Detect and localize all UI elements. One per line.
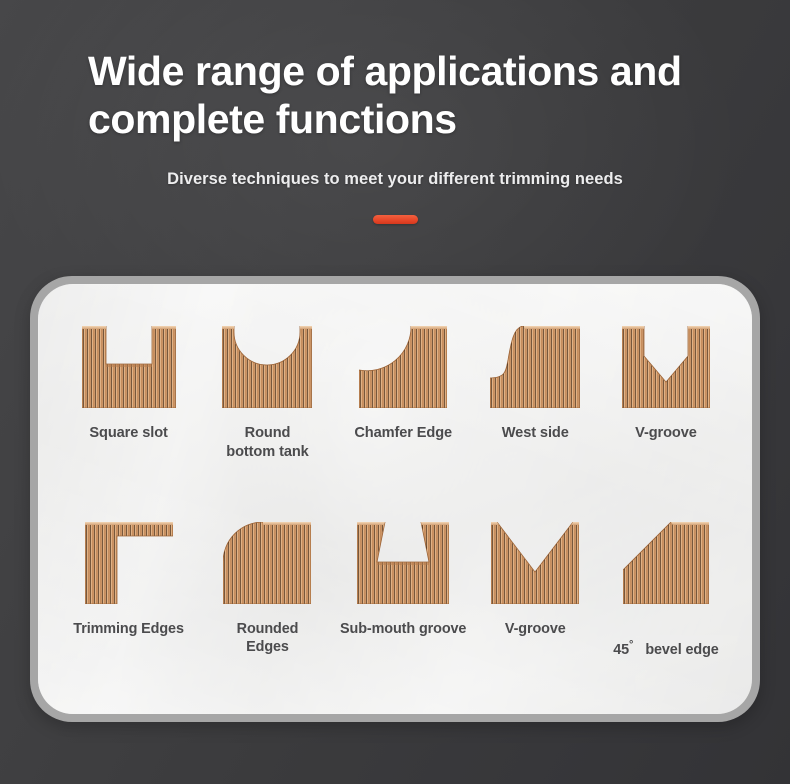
shape-cell-sub-mouth-groove[interactable]: Sub-mouth groove bbox=[336, 508, 471, 638]
west-side-shape bbox=[490, 312, 580, 408]
shape-row-2: Trimming Edges Rounded Edges bbox=[58, 508, 732, 688]
shape-label: Chamfer Edge bbox=[354, 424, 452, 443]
shape-cell-round-bottom-tank[interactable]: Round bottom tank bbox=[199, 312, 336, 461]
sub-mouth-groove-shape bbox=[357, 508, 449, 604]
bevel-label-rest: bevel edge bbox=[645, 642, 718, 658]
shape-label: Sub-mouth groove bbox=[340, 620, 466, 638]
shape-row-1: Square slot Round bottom tank bbox=[58, 312, 732, 502]
gallery-card-frame: Square slot Round bottom tank bbox=[30, 276, 760, 722]
shape-label: V-groove bbox=[505, 620, 566, 638]
v-groove-wide-shape bbox=[491, 508, 579, 604]
shape-cell-chamfer-edge[interactable]: Chamfer Edge bbox=[336, 312, 471, 443]
shape-label: Square slot bbox=[89, 424, 167, 443]
shape-label: West side bbox=[502, 424, 569, 443]
shape-label: V-groove bbox=[635, 424, 697, 443]
shape-label: Trimming Edges bbox=[73, 620, 184, 638]
page-subtitle: Diverse techniques to meet your differen… bbox=[0, 170, 790, 189]
bevel-edge-45-shape bbox=[623, 508, 709, 604]
shape-cell-square-slot[interactable]: Square slot bbox=[58, 312, 199, 443]
page-title: Wide range of applications and complete … bbox=[0, 48, 790, 144]
divider-container bbox=[0, 215, 790, 224]
v-groove-deep-shape bbox=[622, 312, 710, 408]
bevel-angle-value: 45 bbox=[613, 641, 629, 659]
shape-label: Rounded Edges bbox=[237, 620, 299, 657]
square-slot-shape bbox=[82, 312, 176, 408]
shape-cell-rounded-edges[interactable]: Rounded Edges bbox=[199, 508, 336, 657]
shape-cell-v-groove-deep[interactable]: V-groove bbox=[600, 312, 732, 443]
shape-label: 45°bevel edge bbox=[613, 620, 719, 660]
gallery-card: Square slot Round bottom tank bbox=[38, 284, 752, 714]
chamfer-edge-shape bbox=[359, 312, 447, 408]
shape-label: Round bottom tank bbox=[226, 424, 308, 461]
shape-cell-v-groove-wide[interactable]: V-groove bbox=[471, 508, 600, 638]
promo-page: Wide range of applications and complete … bbox=[0, 0, 790, 784]
accent-divider bbox=[373, 215, 418, 224]
round-bottom-tank-shape bbox=[222, 312, 312, 408]
rounded-edges-shape bbox=[223, 508, 311, 604]
trimming-edges-shape bbox=[85, 508, 173, 604]
degree-symbol: ° bbox=[629, 639, 633, 651]
page-header: Wide range of applications and complete … bbox=[0, 0, 790, 224]
shape-cell-west-side[interactable]: West side bbox=[471, 312, 600, 443]
shape-cell-bevel-edge-45[interactable]: 45°bevel edge bbox=[600, 508, 732, 660]
shape-cell-trimming-edges[interactable]: Trimming Edges bbox=[58, 508, 199, 638]
